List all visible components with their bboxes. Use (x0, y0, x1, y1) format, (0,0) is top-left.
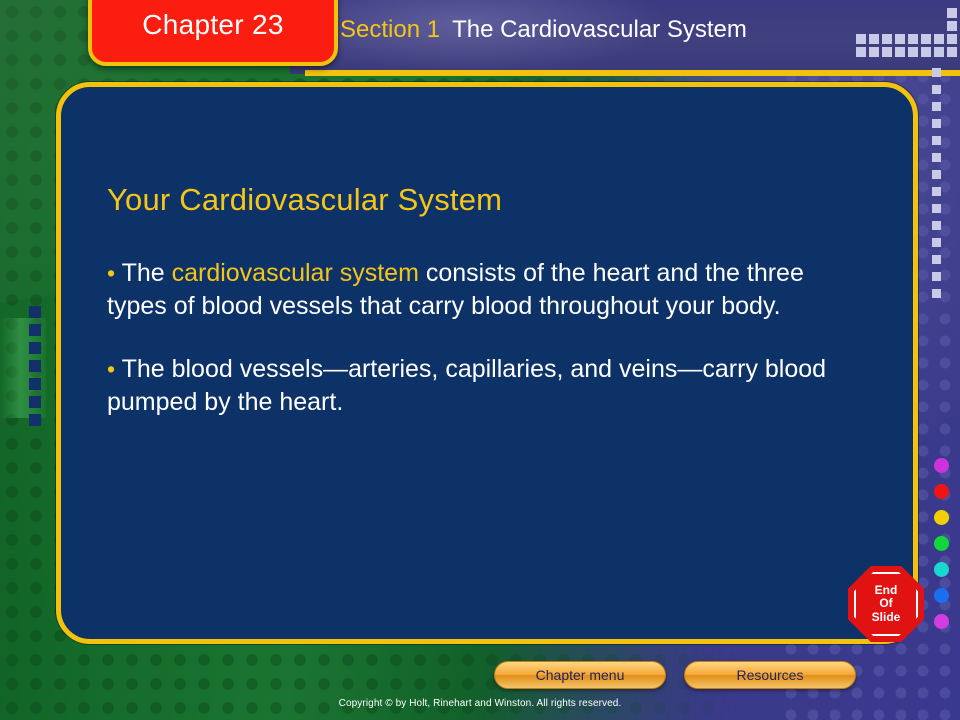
decorative-square (932, 68, 941, 77)
decorative-square (895, 34, 905, 44)
decorative-color-dot (934, 536, 949, 551)
decorative-color-dot (934, 614, 949, 629)
decorative-square (29, 342, 41, 354)
decorative-square (29, 306, 41, 318)
chapter-menu-button[interactable]: Chapter menu (494, 661, 666, 689)
decorative-square (947, 34, 957, 44)
decorative-square (869, 34, 879, 44)
content-panel: Your Cardiovascular System • The cardiov… (56, 82, 918, 644)
decorative-color-dot (934, 562, 949, 577)
chapter-badge[interactable]: Chapter 23 (88, 0, 338, 66)
decorative-square (932, 187, 941, 196)
decorative-square (29, 414, 41, 426)
bullet-text-part: The blood vessels—arteries, capillaries,… (107, 355, 826, 416)
decorative-square (895, 47, 905, 57)
bullet-item-1: • The cardiovascular system consists of … (107, 257, 867, 323)
decorative-square (932, 238, 941, 247)
decorative-square (932, 119, 941, 128)
decorative-square (932, 136, 941, 145)
decorative-square (882, 34, 892, 44)
decorative-square (856, 47, 866, 57)
decorative-square (932, 255, 941, 264)
header-gold-rule (305, 70, 960, 76)
content-panel-body: Your Cardiovascular System • The cardiov… (107, 183, 867, 449)
copyright-notice: Copyright © by Holt, Rinehart and Winsto… (0, 698, 960, 709)
decorative-square (29, 378, 41, 390)
decorative-color-dot (934, 458, 949, 473)
decorative-square (856, 34, 866, 44)
decorative-square (29, 360, 41, 372)
section-heading: Section 1 The Cardiovascular System (340, 16, 747, 44)
bullet-item-2: • The blood vessels—arteries, capillarie… (107, 353, 867, 419)
decorative-square (934, 34, 944, 44)
bullet-highlight-term: cardiovascular system (172, 259, 419, 287)
bullet-marker: • (107, 260, 115, 286)
decorative-color-dot (934, 510, 949, 525)
section-number: Section 1 (340, 16, 440, 44)
decorative-square (932, 153, 941, 162)
decorative-square (947, 8, 957, 18)
decorative-square (921, 47, 931, 57)
end-of-slide-line-3: Slide (872, 610, 901, 624)
bullet-text-part: The (122, 259, 172, 287)
decorative-square (947, 47, 957, 57)
decorative-square (921, 34, 931, 44)
decorative-square (29, 324, 41, 336)
decorative-color-dot (934, 484, 949, 499)
decorative-square (869, 47, 879, 57)
decorative-square (908, 47, 918, 57)
resources-button[interactable]: Resources (684, 661, 856, 689)
decorative-square (934, 47, 944, 57)
decorative-square (908, 34, 918, 44)
decorative-square (932, 289, 941, 298)
decorative-square (29, 396, 41, 408)
end-of-slide-line-2: Of (879, 596, 892, 610)
decorative-square (932, 204, 941, 213)
decorative-square (932, 272, 941, 281)
bullet-marker: • (107, 356, 115, 382)
slide-title: Your Cardiovascular System (107, 183, 867, 217)
decorative-square (947, 21, 957, 31)
chapter-badge-label: Chapter 23 (142, 9, 284, 41)
decorative-square (882, 47, 892, 57)
decorative-color-dot (934, 588, 949, 603)
end-of-slide-line-1: End (875, 583, 898, 597)
end-of-slide-label: End Of Slide (872, 584, 901, 624)
decorative-square (932, 170, 941, 179)
section-name: The Cardiovascular System (452, 16, 747, 44)
decorative-square (932, 85, 941, 94)
decorative-square (932, 221, 941, 230)
slide-canvas: Your Cardiovascular System • The cardiov… (0, 0, 960, 720)
decorative-square (932, 102, 941, 111)
end-of-slide-icon[interactable]: End Of Slide (848, 566, 924, 642)
